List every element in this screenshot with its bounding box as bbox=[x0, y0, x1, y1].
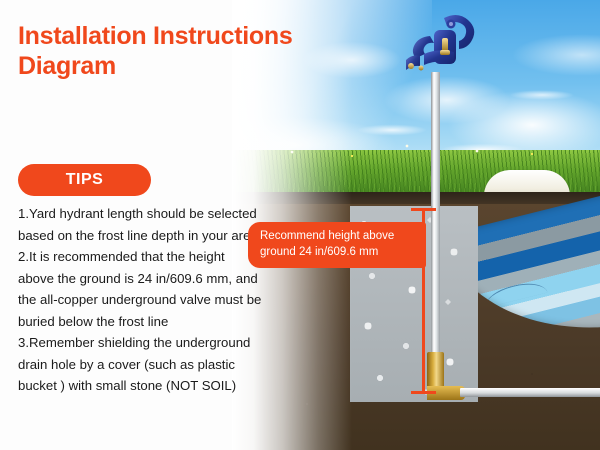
tips-badge: TIPS bbox=[18, 164, 151, 196]
tips-badge-label: TIPS bbox=[66, 171, 104, 189]
page-title-line-2: Diagram bbox=[18, 52, 348, 82]
tips-item-1: 1.Yard hydrant length should be selected… bbox=[18, 203, 263, 246]
measure-tick-bottom bbox=[411, 391, 436, 394]
page-title: Installation Instructions Diagram bbox=[18, 22, 348, 81]
hydrant-head-icon bbox=[404, 8, 482, 78]
recommend-height-callout-text: Recommend height above ground 24 in/609.… bbox=[260, 230, 394, 258]
recommend-height-callout: Recommend height above ground 24 in/609.… bbox=[248, 222, 426, 268]
hydrant-head-svg bbox=[404, 8, 482, 78]
installation-instructions-infographic: Installation Instructions Diagram TIPS 1… bbox=[0, 0, 600, 450]
supply-pipe bbox=[460, 388, 600, 397]
tips-list: 1.Yard hydrant length should be selected… bbox=[18, 203, 263, 397]
tips-item-2: 2.It is recommended that the height abov… bbox=[18, 246, 263, 332]
tips-item-3: 3.Remember shielding the underground dra… bbox=[18, 332, 263, 397]
page-title-line-1: Installation Instructions bbox=[18, 22, 348, 52]
